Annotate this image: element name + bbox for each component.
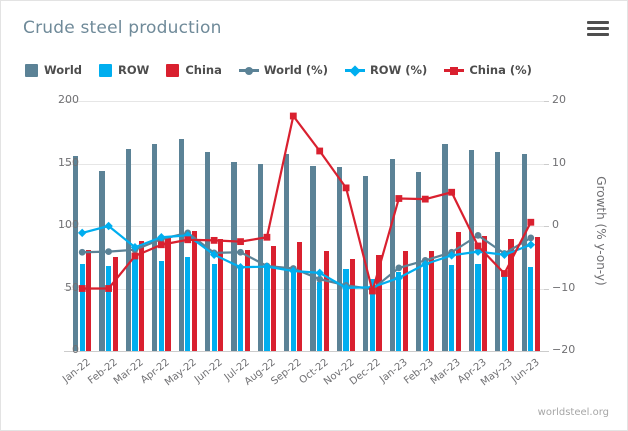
y-axis-tick-label-right: −20 [552, 343, 592, 356]
data-point-marker[interactable] [211, 237, 218, 244]
data-point-marker[interactable] [395, 195, 402, 202]
data-point-marker[interactable] [475, 232, 482, 239]
legend-line-marker-icon [239, 64, 259, 77]
y-axis-tick [544, 101, 549, 102]
data-point-marker[interactable] [395, 264, 402, 271]
data-point-marker[interactable] [395, 274, 403, 282]
chart-card: Crude steel production WorldROWChinaWorl… [0, 0, 628, 431]
y-axis-tick [544, 289, 549, 290]
data-point-marker[interactable] [79, 249, 86, 256]
legend-item-world[interactable]: World [25, 63, 82, 77]
chart-legend: WorldROWChinaWorld (%)ROW (%)China (%) [25, 63, 549, 77]
data-point-marker[interactable] [369, 288, 376, 295]
legend-item-china[interactable]: China [166, 63, 222, 77]
data-point-marker[interactable] [105, 285, 112, 292]
y-axis-tick-label-left: 150 [39, 156, 79, 169]
data-point-marker[interactable] [527, 241, 535, 249]
legend-item-china[interactable]: China (%) [444, 63, 532, 77]
line-series-layer [69, 101, 544, 351]
y-axis-label-right: Growth (% y-on-y) [594, 151, 608, 311]
data-point-marker[interactable] [527, 234, 534, 241]
hamburger-menu-icon[interactable] [587, 21, 609, 39]
legend-swatch-icon [25, 64, 38, 77]
legend-line-marker-icon [444, 64, 464, 77]
watermark: worldsteel.org [538, 407, 609, 418]
y-axis-label-left: Production (Mt) [0, 19, 1, 179]
legend-item-label: China (%) [469, 63, 532, 77]
legend-item-world[interactable]: World (%) [239, 63, 328, 77]
y-axis-tick-label-left: 0 [39, 343, 79, 356]
y-axis-tick [544, 164, 549, 165]
gridline [69, 351, 544, 352]
legend-item-label: World (%) [264, 63, 328, 77]
y-axis-tick [544, 226, 549, 227]
data-point-marker[interactable] [315, 269, 323, 277]
data-point-marker[interactable] [105, 248, 112, 255]
data-point-marker[interactable] [132, 253, 139, 260]
data-point-marker[interactable] [501, 270, 508, 277]
data-point-marker[interactable] [237, 238, 244, 245]
line-row [82, 226, 531, 288]
data-point-marker[interactable] [237, 249, 244, 256]
legend-item-label: World [44, 63, 82, 77]
y-axis-tick [544, 351, 549, 352]
legend-item-label: China [185, 63, 222, 77]
plot-area [69, 101, 544, 351]
y-axis-tick-label-right: 0 [552, 218, 592, 231]
legend-line-marker-icon [345, 64, 365, 77]
data-point-marker[interactable] [78, 229, 86, 237]
data-point-marker[interactable] [448, 189, 455, 196]
legend-item-label: ROW (%) [370, 63, 427, 77]
data-point-marker[interactable] [184, 236, 191, 243]
legend-item-row[interactable]: ROW [99, 63, 149, 77]
legend-swatch-icon [99, 64, 112, 77]
y-axis-tick-label-left: 50 [39, 281, 79, 294]
data-point-marker[interactable] [527, 219, 534, 226]
data-point-marker[interactable] [236, 263, 244, 271]
legend-swatch-icon [166, 64, 179, 77]
legend-item-row[interactable]: ROW (%) [345, 63, 427, 77]
y-axis-tick-label-right: −10 [552, 281, 592, 294]
y-axis-tick-label-left: 200 [39, 93, 79, 106]
data-point-marker[interactable] [316, 148, 323, 155]
legend-item-label: ROW [118, 63, 149, 77]
data-point-marker[interactable] [264, 234, 271, 241]
line-china [82, 116, 531, 291]
y-axis-tick-label-right: 20 [552, 93, 592, 106]
data-point-marker[interactable] [422, 196, 429, 203]
data-point-marker[interactable] [79, 285, 86, 292]
data-point-marker[interactable] [343, 184, 350, 191]
page-title: Crude steel production [23, 18, 222, 38]
y-axis-tick-label-left: 100 [39, 218, 79, 231]
y-axis-tick-label-right: 10 [552, 156, 592, 169]
data-point-marker[interactable] [290, 113, 297, 120]
data-point-marker[interactable] [475, 243, 482, 250]
data-point-marker[interactable] [158, 241, 165, 248]
